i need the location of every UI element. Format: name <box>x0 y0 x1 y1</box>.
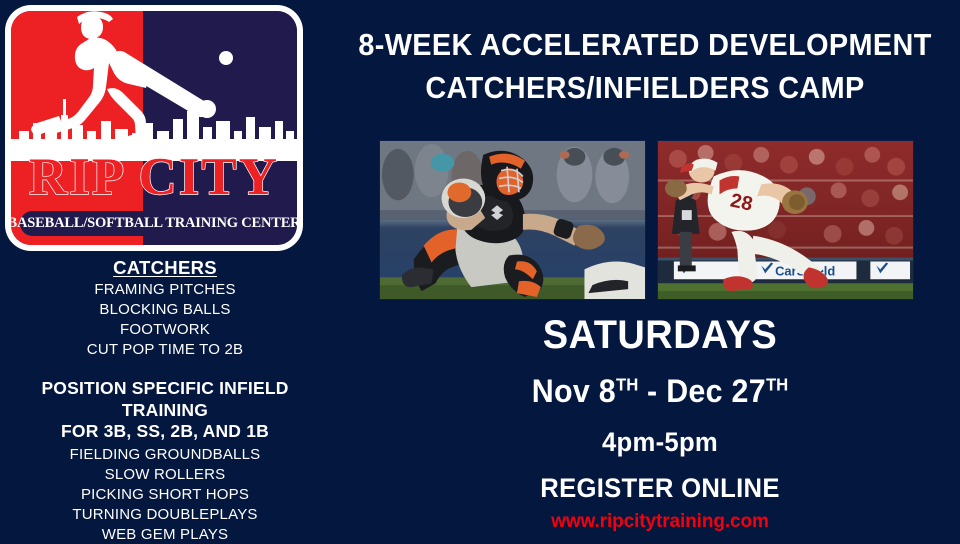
catchers-item: BLOCKING BALLS <box>0 300 330 320</box>
headline-line-1: 8-WEEK ACCELERATED DEVELOPMENT <box>352 24 938 67</box>
catcher-photo-art <box>380 141 645 299</box>
catchers-item: FRAMING PITCHES <box>0 280 330 300</box>
flyer-canvas: RIP CITY ●BASEBALL/SOFTBALL TRAINING CEN… <box>0 0 960 540</box>
end-month: Dec <box>666 373 723 409</box>
logo-inner-panel: RIP CITY ●BASEBALL/SOFTBALL TRAINING CEN… <box>11 11 297 245</box>
date-separator: - <box>647 373 657 409</box>
catchers-heading: CATCHERS <box>0 256 330 279</box>
rip-city-logo: RIP CITY ●BASEBALL/SOFTBALL TRAINING CEN… <box>5 5 303 251</box>
catchers-item: CUT POP TIME TO 2B <box>0 340 330 360</box>
end-ordinal-suffix: TH <box>766 374 788 394</box>
infield-item: SLOW ROLLERS <box>0 465 330 485</box>
infielder-photo-art: CarShield <box>658 141 913 299</box>
logo-tagline-bar: ●BASEBALL/SOFTBALL TRAINING CENTER● <box>20 211 288 236</box>
svg-text:28: 28 <box>728 190 754 216</box>
website-url[interactable]: www.ripcitytraining.com <box>440 511 880 534</box>
headline: 8-WEEK ACCELERATED DEVELOPMENT CATCHERS/… <box>330 24 960 110</box>
infield-item: FIELDING GROUNDBALLS <box>0 445 330 465</box>
infield-item: PICKING SHORT HOPS <box>0 485 330 505</box>
headline-line-2: CATCHERS/INFIELDERS CAMP <box>352 67 938 110</box>
baseball-icon <box>219 51 233 65</box>
catcher-photo <box>379 140 646 300</box>
date-range: Nov 8TH - Dec 27TH <box>451 372 869 410</box>
start-ordinal-suffix: TH <box>616 374 638 394</box>
end-day: 27 <box>732 373 766 409</box>
session-time: 4pm-5pm <box>451 426 869 458</box>
catchers-item: FOOTWORK <box>0 320 330 340</box>
left-column: CATCHERS FRAMING PITCHES BLOCKING BALLS … <box>0 256 330 544</box>
logo-wordmark: RIP CITY <box>11 151 297 204</box>
section-spacer <box>0 359 330 378</box>
infield-heading-line-2: FOR 3B, SS, 2B, AND 1B <box>0 421 330 442</box>
start-day: 8 <box>599 373 616 409</box>
infield-item: WEB GEM PLAYS <box>0 525 330 544</box>
infield-heading-line-1: POSITION SPECIFIC INFIELD TRAINING <box>0 378 330 421</box>
batter-silhouette-icon <box>11 11 297 161</box>
start-month: Nov <box>532 373 590 409</box>
register-callout: REGISTER ONLINE <box>451 472 869 504</box>
infield-item: TURNING DOUBLEPLAYS <box>0 505 330 525</box>
day-of-week: SATURDAYS <box>451 312 869 358</box>
logo-tagline: ●BASEBALL/SOFTBALL TRAINING CENTER● <box>11 216 297 231</box>
right-column: SATURDAYS Nov 8TH - Dec 27TH 4pm-5pm REG… <box>440 312 880 534</box>
infielder-photo: CarShield <box>657 140 914 300</box>
